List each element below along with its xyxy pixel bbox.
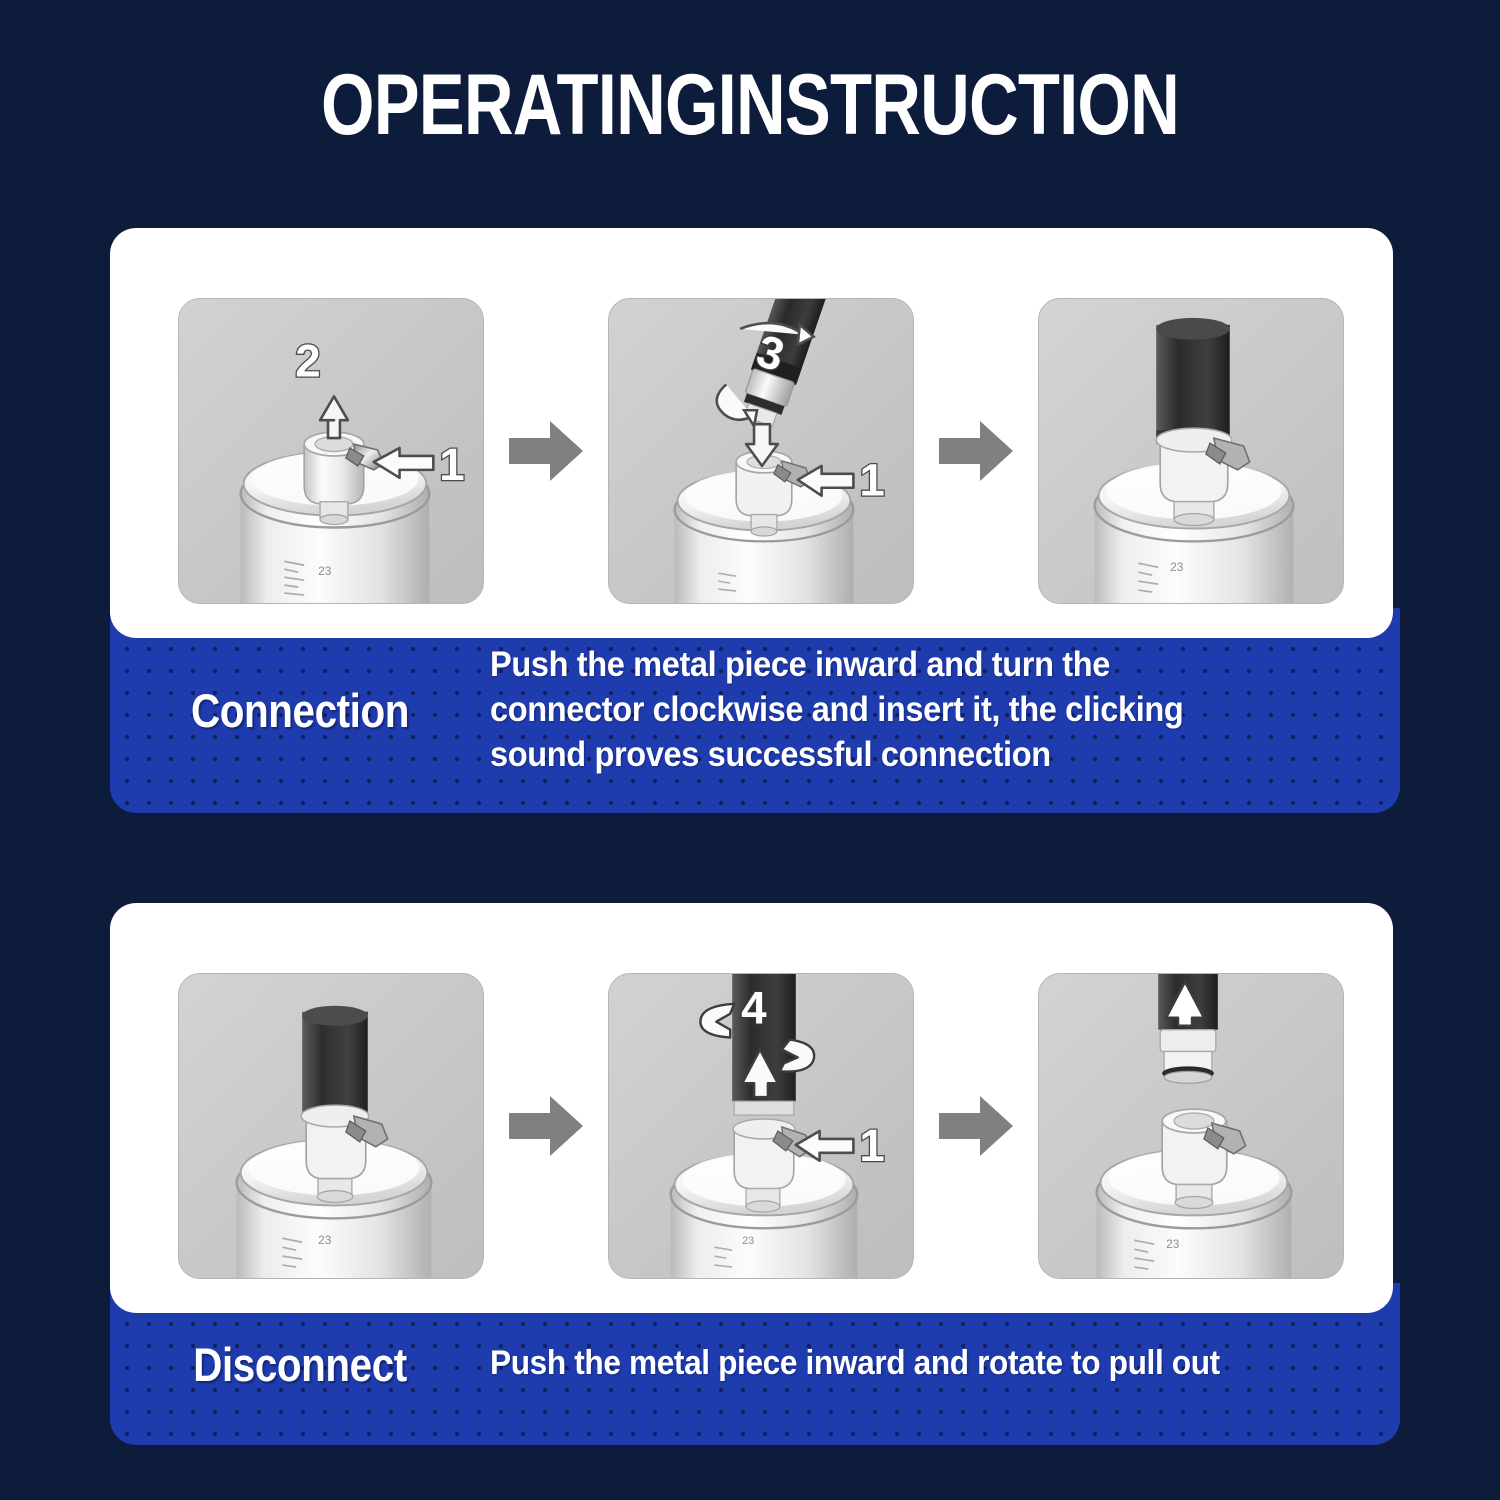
svg-text:1: 1	[859, 1120, 884, 1171]
flow-arrow-disconnect-1	[484, 1094, 608, 1158]
section-description-disconnect: Push the metal piece inward and rotate t…	[490, 1342, 1336, 1386]
svg-text:23: 23	[1170, 560, 1184, 574]
svg-text:23: 23	[742, 1235, 754, 1247]
svg-text:1: 1	[439, 439, 464, 490]
connection-photo-card: 23 2	[110, 228, 1393, 638]
svg-text:1: 1	[859, 455, 884, 506]
page-title: OPERATINGINSTRUCTION	[150, 62, 1350, 148]
step-image-connection-2: 3 1	[608, 298, 914, 604]
step-image-disconnect-2: 23 4	[608, 973, 914, 1279]
step-image-connection-1: 23 2	[178, 298, 484, 604]
svg-text:23: 23	[1166, 1237, 1180, 1251]
section-label-connection: Connection	[137, 683, 464, 738]
section-connection: 23 2	[110, 228, 1400, 813]
block-right-arrow-icon	[509, 419, 583, 483]
disconnect-steps-row: 23	[110, 973, 1393, 1279]
disconnect-photo-card: 23	[110, 903, 1393, 1313]
svg-text:4: 4	[741, 983, 767, 1034]
section-description-connection: Push the metal piece inward and turn the…	[490, 643, 1336, 777]
svg-text:2: 2	[295, 335, 320, 386]
step-image-disconnect-3: 23	[1038, 973, 1344, 1279]
connection-steps-row: 23 2	[110, 298, 1393, 604]
section-disconnect: 23	[110, 903, 1400, 1445]
flow-arrow-connection-1	[484, 419, 608, 483]
step-image-connection-3: 23	[1038, 298, 1344, 604]
block-right-arrow-icon	[509, 1094, 583, 1158]
caption-band-connection: Connection Push the metal piece inward a…	[110, 608, 1400, 813]
block-right-arrow-icon	[939, 1094, 1013, 1158]
flow-arrow-disconnect-2	[914, 1094, 1038, 1158]
step-image-disconnect-1: 23	[178, 973, 484, 1279]
block-right-arrow-icon	[939, 419, 1013, 483]
svg-text:23: 23	[318, 1233, 332, 1247]
flow-arrow-connection-2	[914, 419, 1038, 483]
section-label-disconnect: Disconnect	[137, 1337, 464, 1392]
svg-text:23: 23	[318, 564, 332, 578]
